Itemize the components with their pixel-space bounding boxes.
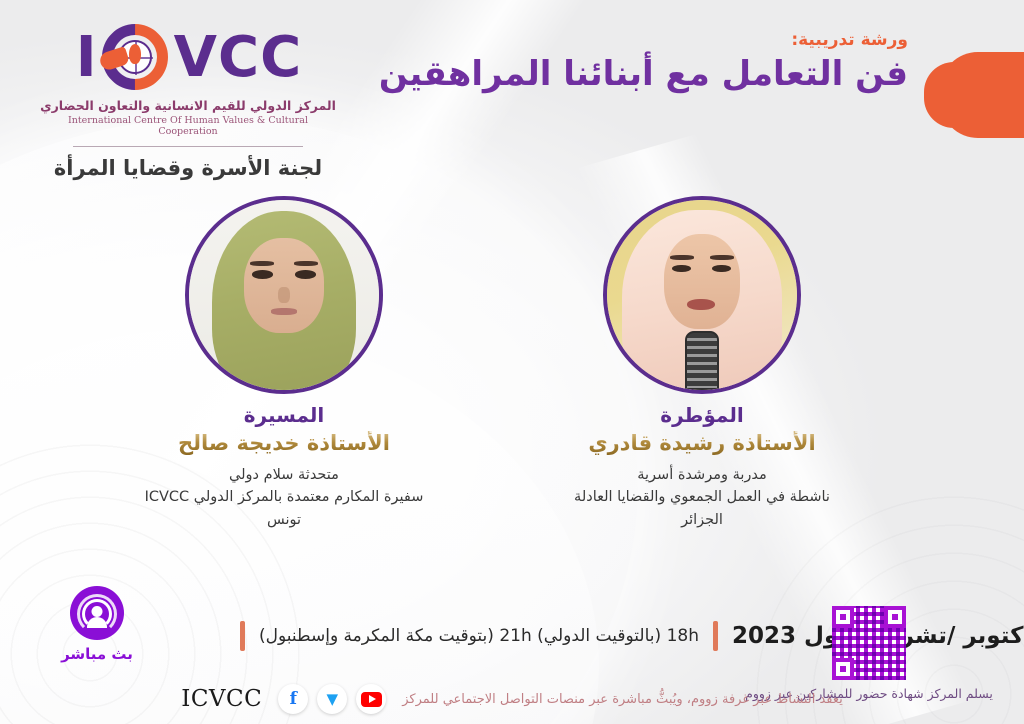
speaker-card-moderator: المسيرة الأستاذة خديجة صالح متحدثة سلام … [94,196,474,531]
organization-name-english: International Centre Of Human Values & C… [38,115,338,137]
facebook-icon[interactable]: f [278,684,308,714]
social-links: f ▼ [278,684,386,714]
twitter-icon[interactable]: ▼ [317,684,347,714]
flame-icon [129,44,141,64]
speaker-role: المؤطرة [512,403,892,427]
face-shape [664,234,740,329]
globe-handshake-emblem [98,22,172,94]
eyebrow-right [710,255,735,260]
bio-line: متحدثة سلام دولي [94,464,474,486]
bio-line: تونس [94,509,474,531]
eyebrow-right [294,261,319,266]
bio-line: سفيرة المكارم معتمدة بالمركز الدولي ICVC… [94,486,474,508]
mouth-shape [687,299,716,310]
speaker-role: المسيرة [94,403,474,427]
speaker-name: الأستاذة رشيدة قادري [512,431,892,455]
bio-line: الجزائر [512,509,892,531]
speaker-photo-rachida-kadri [603,196,801,394]
nose-shape [278,287,289,302]
qr-finder-top-right [884,606,906,628]
brand-name: ICVCC [181,686,262,712]
logo-letter-v: V [174,30,216,86]
speaker-photo-khadija-saleh [185,196,383,394]
event-time: 18h (بالتوقيت الدولي) 21h (بتوقيت مكة ال… [259,626,699,646]
speaker-bio: مدربة ومرشدة أسرية ناشطة في العمل الجمعو… [512,464,892,531]
portrait-illustration [189,200,379,390]
organization-name-arabic: المركز الدولي للقيم الانسانية والتعاون ا… [38,98,338,113]
event-poster: I V C C المركز الدولي للقيم الانسانية وا… [0,0,1024,724]
logo-letter-i: I [76,30,96,86]
speaker-name: الأستاذة خديجة صالح [94,431,474,455]
title-block: ورشة تدريبية: فن التعامل مع أبنائنا المر… [288,30,908,96]
qr-code[interactable] [832,606,906,680]
eye-left [672,265,691,273]
eye-left [252,270,273,279]
eye-right [712,265,731,273]
face-shape [244,238,324,333]
qr-finder-top-left [832,606,854,628]
footer-note: يعقد النشاط عبر غرفة زووم، ويُبثُّ مباشر… [402,692,843,707]
committee-name: لجنة الأسرة وقضايا المرأة [38,156,338,180]
footer: يعقد النشاط عبر غرفة زووم، ويُبثُّ مباشر… [0,674,1024,724]
divider [73,146,303,147]
separator-bar [240,621,245,651]
eye-right [295,270,316,279]
bio-line: ناشطة في العمل الجمعوي والقضايا العادلة [512,486,892,508]
youtube-icon[interactable] [356,684,386,714]
event-title: فن التعامل مع أبنائنا المراهقين [288,53,908,96]
eyebrow-left [670,255,695,260]
bio-line: مدربة ومرشدة أسرية [512,464,892,486]
separator-bar [713,621,718,651]
orange-accent-shape [940,52,1024,138]
event-kicker: ورشة تدريبية: [288,30,908,50]
speaker-card-facilitator: المؤطرة الأستاذة رشيدة قادري مدربة ومرشد… [512,196,892,531]
speaker-bio: متحدثة سلام دولي سفيرة المكارم معتمدة با… [94,464,474,531]
logo-letter-c1: C [218,30,258,86]
mouth-shape [271,308,298,315]
eyebrow-left [250,261,275,266]
portrait-illustration [607,200,797,390]
microphone-icon [685,331,719,390]
